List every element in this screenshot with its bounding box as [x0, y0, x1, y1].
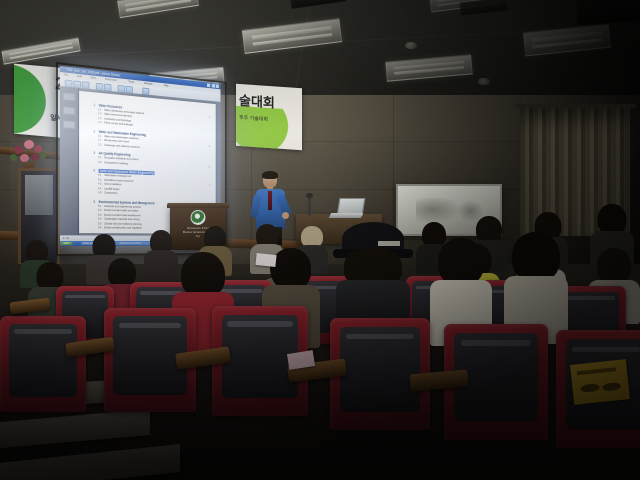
- ceiling-air-vent: [459, 0, 508, 16]
- university-emblem-icon: [191, 210, 206, 225]
- start-button[interactable]: start: [61, 242, 72, 246]
- page-marker: 3: [209, 145, 210, 148]
- page-marker: 1: [209, 116, 210, 119]
- gooseneck-microphone: [308, 196, 311, 216]
- ceiling-light-fixture: [523, 24, 611, 57]
- auditorium-seat[interactable]: [0, 316, 86, 412]
- ceiling-air-vent: [575, 0, 640, 26]
- ceiling-light-fixture: [1, 37, 80, 64]
- ceiling-light-fixture: [117, 0, 199, 18]
- ceiling-light-fixture: [242, 18, 342, 54]
- notebook[interactable]: [255, 253, 276, 267]
- aisle-step: [0, 444, 180, 480]
- lecture-hall-photo: 2 일시 술대회 후주 기술대회 PDF_Env_Jan_2008.pdf - …: [0, 0, 640, 480]
- banner-right: 술대회 후주 기술대회: [236, 84, 302, 151]
- aisle-step: [0, 409, 150, 449]
- smoke-detector-icon: [405, 42, 417, 49]
- page-marker: 5: [209, 166, 210, 169]
- ceiling-light-fixture: [429, 0, 502, 12]
- thumbnail-pane[interactable]: [60, 86, 79, 236]
- outline-number: 1.: [91, 103, 96, 107]
- cap-logo: [378, 241, 400, 246]
- yellow-book[interactable]: [570, 359, 630, 405]
- ceiling-light-fixture: [385, 54, 472, 81]
- ceiling-air-vent: [289, 0, 347, 10]
- presenter-laptop[interactable]: [330, 198, 364, 218]
- page-marker: 7: [209, 184, 210, 187]
- banner-right-title: 술대회: [239, 90, 275, 112]
- smoke-detector-icon: [478, 78, 490, 85]
